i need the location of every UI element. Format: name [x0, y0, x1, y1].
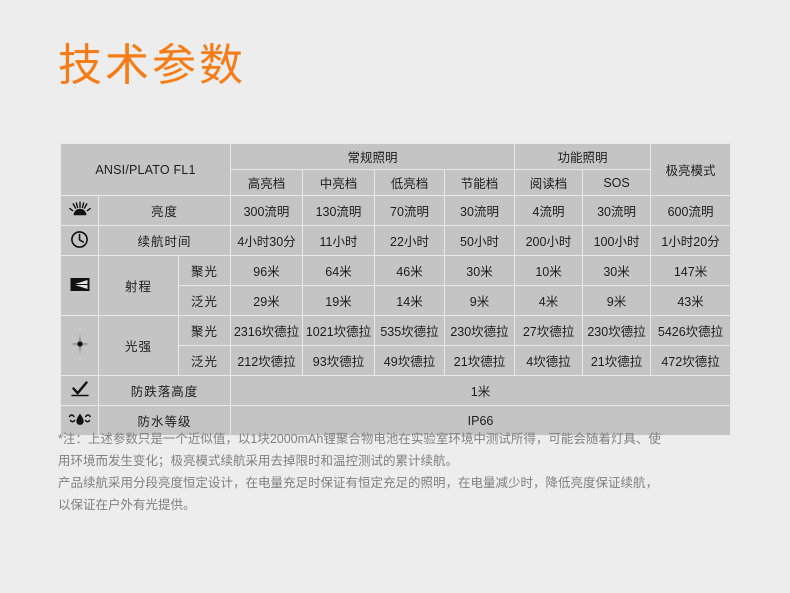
- table-header: ANSI/PLATO FL1 常规照明 功能照明 极亮模式 高亮档 中亮档 低亮…: [61, 144, 731, 196]
- row-label-beam-distance: 射程: [99, 256, 179, 316]
- cell-brightness-reading: 4流明: [515, 196, 583, 226]
- sun-brightness-icon: [61, 196, 99, 226]
- header-group-row: ANSI/PLATO FL1 常规照明 功能照明 极亮模式: [61, 144, 731, 170]
- cell-runtime-reading: 200小时: [515, 226, 583, 256]
- cell-intensity-spot-high: 2316坎德拉: [231, 316, 303, 346]
- cell-runtime-high: 4小时30分: [231, 226, 303, 256]
- cell-beam-flood-eco: 9米: [445, 286, 515, 316]
- table-row-runtime: 续航时间 4小时30分 11小时 22小时 50小时 200小时 100小时 1…: [61, 226, 731, 256]
- cell-beam-spot-medium: 64米: [303, 256, 375, 286]
- table-row-intensity-spot: 光强 聚光 2316坎德拉 1021坎德拉 535坎德拉 230坎德拉 27坎德…: [61, 316, 731, 346]
- cell-brightness-high: 300流明: [231, 196, 303, 226]
- header-group-regular-lighting: 常规照明: [231, 144, 515, 170]
- light-intensity-icon: [61, 316, 99, 376]
- table-body: 亮度 300流明 130流明 70流明 30流明 4流明 30流明 600流明: [61, 196, 731, 436]
- cell-beam-flood-reading: 4米: [515, 286, 583, 316]
- cell-intensity-spot-turbo: 5426坎德拉: [651, 316, 731, 346]
- cell-brightness-eco: 30流明: [445, 196, 515, 226]
- cell-beam-flood-medium: 19米: [303, 286, 375, 316]
- cell-beam-flood-high: 29米: [231, 286, 303, 316]
- cell-runtime-sos: 100小时: [583, 226, 651, 256]
- cell-runtime-low: 22小时: [375, 226, 445, 256]
- header-mode-high: 高亮档: [231, 170, 303, 196]
- sun-brightness-glyph: [69, 200, 91, 218]
- sub-label-spot-intensity: 聚光: [179, 316, 231, 346]
- header-group-functional-lighting: 功能照明: [515, 144, 651, 170]
- cell-intensity-flood-eco: 21坎德拉: [445, 346, 515, 376]
- cell-beam-spot-high: 96米: [231, 256, 303, 286]
- cell-intensity-spot-eco: 230坎德拉: [445, 316, 515, 346]
- table-row-brightness: 亮度 300流明 130流明 70流明 30流明 4流明 30流明 600流明: [61, 196, 731, 226]
- cell-brightness-turbo: 600流明: [651, 196, 731, 226]
- spec-table-container: ANSI/PLATO FL1 常规照明 功能照明 极亮模式 高亮档 中亮档 低亮…: [60, 143, 730, 436]
- cell-brightness-medium: 130流明: [303, 196, 375, 226]
- cell-brightness-low: 70流明: [375, 196, 445, 226]
- footnote-line-3: 产品续航采用分段亮度恒定设计，在电量充足时保证有恒定充足的照明，在电量减少时，降…: [58, 472, 748, 494]
- footnote-line-1: *注：上述参数只是一个近似值，以1块2000mAh锂聚合物电池在实验室环境中测试…: [58, 428, 748, 450]
- row-label-runtime: 续航时间: [99, 226, 231, 256]
- footnote-line-2: 用环境而发生变化；极亮模式续航采用去掉限时和温控测试的累计续航。: [58, 450, 748, 472]
- cell-intensity-flood-turbo: 472坎德拉: [651, 346, 731, 376]
- header-mode-sos: SOS: [583, 170, 651, 196]
- footnote-line-4: 以保证在户外有光提供。: [58, 494, 748, 516]
- page-title: 技术参数: [58, 44, 246, 88]
- sub-label-flood-beam-distance: 泛光: [179, 286, 231, 316]
- cell-runtime-medium: 11小时: [303, 226, 375, 256]
- cell-brightness-sos: 30流明: [583, 196, 651, 226]
- spec-sheet-page: 技术参数 ANSI/PLATO FL1 常规照明 功能照明 极: [0, 0, 790, 593]
- cell-beam-spot-sos: 30米: [583, 256, 651, 286]
- row-label-light-intensity: 光强: [99, 316, 179, 376]
- footnote-block: *注：上述参数只是一个近似值，以1块2000mAh锂聚合物电池在实验室环境中测试…: [58, 428, 748, 516]
- cell-drop-height-value: 1米: [231, 376, 731, 406]
- drop-impact-glyph: [69, 380, 91, 398]
- specification-table: ANSI/PLATO FL1 常规照明 功能照明 极亮模式 高亮档 中亮档 低亮…: [60, 143, 731, 436]
- cell-intensity-spot-sos: 230坎德拉: [583, 316, 651, 346]
- drop-impact-icon: [61, 376, 99, 406]
- cell-beam-spot-turbo: 147米: [651, 256, 731, 286]
- cell-intensity-spot-medium: 1021坎德拉: [303, 316, 375, 346]
- header-ansi-plato: ANSI/PLATO FL1: [61, 144, 231, 196]
- cell-runtime-turbo: 1小时20分: [651, 226, 731, 256]
- header-mode-medium: 中亮档: [303, 170, 375, 196]
- sub-label-spot-beam-distance: 聚光: [179, 256, 231, 286]
- beam-distance-glyph: [69, 277, 91, 292]
- light-intensity-glyph: [69, 333, 91, 355]
- water-resistance-glyph: [68, 410, 92, 428]
- table-row-drop-height: 防跌落高度 1米: [61, 376, 731, 406]
- row-label-drop-height: 防跌落高度: [99, 376, 231, 406]
- header-group-turbo-mode: 极亮模式: [651, 144, 731, 196]
- header-mode-eco: 节能档: [445, 170, 515, 196]
- cell-intensity-flood-low: 49坎德拉: [375, 346, 445, 376]
- header-mode-low: 低亮档: [375, 170, 445, 196]
- sub-label-flood-intensity: 泛光: [179, 346, 231, 376]
- cell-intensity-flood-sos: 21坎德拉: [583, 346, 651, 376]
- beam-distance-icon: [61, 256, 99, 316]
- cell-intensity-flood-medium: 93坎德拉: [303, 346, 375, 376]
- cell-beam-flood-low: 14米: [375, 286, 445, 316]
- cell-beam-flood-turbo: 43米: [651, 286, 731, 316]
- table-row-beam-distance-spot: 射程 聚光 96米 64米 46米 30米 10米 30米 147米: [61, 256, 731, 286]
- clock-glyph: [70, 230, 89, 249]
- cell-intensity-spot-reading: 27坎德拉: [515, 316, 583, 346]
- cell-intensity-flood-high: 212坎德拉: [231, 346, 303, 376]
- cell-runtime-eco: 50小时: [445, 226, 515, 256]
- header-mode-reading: 阅读档: [515, 170, 583, 196]
- cell-beam-spot-reading: 10米: [515, 256, 583, 286]
- cell-beam-spot-low: 46米: [375, 256, 445, 286]
- clock-icon: [61, 226, 99, 256]
- cell-beam-spot-eco: 30米: [445, 256, 515, 286]
- row-label-brightness: 亮度: [99, 196, 231, 226]
- cell-intensity-spot-low: 535坎德拉: [375, 316, 445, 346]
- cell-beam-flood-sos: 9米: [583, 286, 651, 316]
- cell-intensity-flood-reading: 4坎德拉: [515, 346, 583, 376]
